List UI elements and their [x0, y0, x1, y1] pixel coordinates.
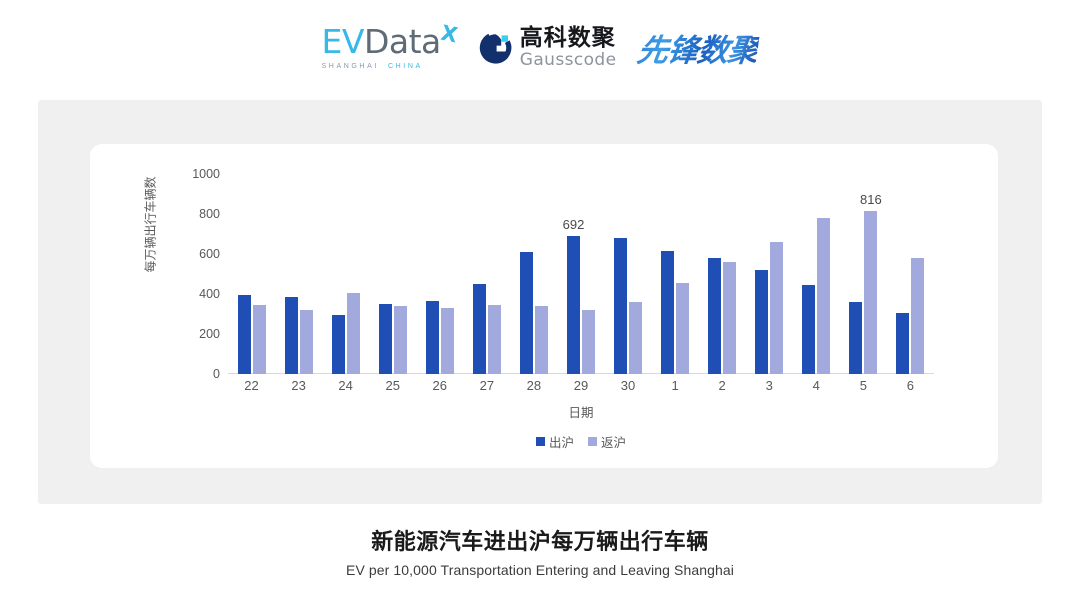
x-axis-tick-4: 4 [793, 378, 840, 393]
evdata-tagline: SHANGHAI CHINA [322, 63, 423, 70]
evdata-tagline-country: CHINA [388, 63, 423, 70]
evdata-ev-text: EV [322, 22, 364, 61]
x-axis-tick-5: 5 [840, 378, 887, 393]
legend-item-返沪[interactable]: 返沪 [588, 432, 626, 451]
bar-出沪-30[interactable] [614, 238, 627, 374]
evdata-wordmark: EVDataX [322, 25, 441, 58]
chart-outer-panel: 每万辆出行车辆数 692816 10008006004002000 222324… [38, 100, 1042, 504]
bar-group [322, 174, 369, 374]
bar-返沪-28[interactable] [535, 306, 548, 374]
bar-出沪-3[interactable] [755, 270, 768, 374]
chart-legend: 出沪返沪 [228, 432, 934, 451]
y-axis-tick-1000: 1000 [192, 167, 220, 181]
bar-返沪-30[interactable] [629, 302, 642, 374]
x-axis-title: 日期 [228, 402, 934, 421]
y-axis-tick-0: 0 [213, 367, 220, 381]
x-axis-tick-22: 22 [228, 378, 275, 393]
x-axis-tick-27: 27 [463, 378, 510, 393]
bar-返沪-22[interactable] [253, 305, 266, 374]
x-axis-tick-29: 29 [557, 378, 604, 393]
legend-swatch-icon [536, 437, 545, 446]
bar-group [887, 174, 934, 374]
logo-bar: EVDataX SHANGHAI CHINA 高科数聚 Gausscode 先锋… [0, 0, 1080, 95]
y-axis-tick-200: 200 [199, 327, 220, 341]
plot-area: 692816 10008006004002000 [228, 174, 934, 374]
evdata-data-text: Data [364, 22, 441, 61]
bar-出沪-23[interactable] [285, 297, 298, 374]
bar-返沪-24[interactable] [347, 293, 360, 374]
bar-group [228, 174, 275, 374]
bar-value-label: 692 [563, 217, 585, 232]
bar-group [463, 174, 510, 374]
bar-返沪-6[interactable] [911, 258, 924, 374]
y-axis-tick-600: 600 [199, 247, 220, 261]
gausscode-text: 高科数聚 Gausscode [520, 26, 617, 69]
bar-chart: 每万辆出行车辆数 692816 10008006004002000 222324… [90, 144, 998, 468]
caption-subtitle: EV per 10,000 Transportation Entering an… [0, 562, 1080, 578]
gausscode-cn-name: 高科数聚 [520, 26, 617, 49]
bar-出沪-26[interactable] [426, 301, 439, 374]
evdata-logo: EVDataX SHANGHAI CHINA [322, 25, 457, 70]
bar-value-label: 816 [860, 192, 882, 207]
y-axis-title: 每万辆出行车辆数 [142, 145, 159, 305]
bar-group [416, 174, 463, 374]
bar-group [699, 174, 746, 374]
x-axis-tick-3: 3 [746, 378, 793, 393]
bar-出沪-5[interactable] [849, 302, 862, 374]
y-axis-tick-800: 800 [199, 207, 220, 221]
bar-返沪-27[interactable] [488, 305, 501, 374]
legend-swatch-icon [588, 437, 597, 446]
x-axis-tick-1: 1 [652, 378, 699, 393]
x-axis-tick-23: 23 [275, 378, 322, 393]
bar-group [652, 174, 699, 374]
legend-label: 出沪 [549, 432, 574, 451]
bar-出沪-29[interactable]: 692 [567, 236, 580, 374]
gausscode-mark-icon [479, 31, 513, 65]
bar-出沪-4[interactable] [802, 285, 815, 374]
bar-group [746, 174, 793, 374]
bar-出沪-28[interactable] [520, 252, 533, 374]
x-axis-tick-25: 25 [369, 378, 416, 393]
legend-label: 返沪 [601, 432, 626, 451]
bar-出沪-27[interactable] [473, 284, 486, 374]
bar-返沪-23[interactable] [300, 310, 313, 374]
bar-group [510, 174, 557, 374]
caption-block: 新能源汽车进出沪每万辆出行车辆 EV per 10,000 Transporta… [0, 524, 1080, 578]
bar-groups: 692816 [228, 174, 934, 374]
x-axis-tick-6: 6 [887, 378, 934, 393]
bar-返沪-2[interactable] [723, 262, 736, 374]
bar-出沪-6[interactable] [896, 313, 909, 374]
bar-返沪-4[interactable] [817, 218, 830, 374]
bar-返沪-26[interactable] [441, 308, 454, 374]
bar-group: 692 [557, 174, 604, 374]
x-axis-tick-26: 26 [416, 378, 463, 393]
x-axis-tick-labels: 222324252627282930123456 [228, 378, 934, 393]
bar-出沪-24[interactable] [332, 315, 345, 374]
gausscode-logo: 高科数聚 Gausscode [479, 26, 617, 69]
evdata-x-icon: X [439, 23, 459, 47]
bar-返沪-5[interactable]: 816 [864, 211, 877, 374]
bar-返沪-3[interactable] [770, 242, 783, 374]
bar-返沪-25[interactable] [394, 306, 407, 374]
bar-出沪-22[interactable] [238, 295, 251, 374]
bar-出沪-1[interactable] [661, 251, 674, 374]
xianfeng-logo: 先锋数聚 [635, 25, 761, 70]
legend-item-出沪[interactable]: 出沪 [536, 432, 574, 451]
bar-group [369, 174, 416, 374]
gausscode-en-name: Gausscode [520, 52, 617, 69]
caption-title: 新能源汽车进出沪每万辆出行车辆 [0, 524, 1080, 556]
bar-返沪-29[interactable] [582, 310, 595, 374]
x-axis-tick-24: 24 [322, 378, 369, 393]
x-axis-tick-28: 28 [510, 378, 557, 393]
x-axis-tick-2: 2 [699, 378, 746, 393]
chart-card: 每万辆出行车辆数 692816 10008006004002000 222324… [90, 144, 998, 468]
bar-返沪-1[interactable] [676, 283, 689, 374]
x-axis-tick-30: 30 [605, 378, 652, 393]
bar-group [793, 174, 840, 374]
bar-group [605, 174, 652, 374]
y-axis-tick-400: 400 [199, 287, 220, 301]
bar-group: 816 [840, 174, 887, 374]
bar-group [275, 174, 322, 374]
bar-出沪-2[interactable] [708, 258, 721, 374]
bar-出沪-25[interactable] [379, 304, 392, 374]
evdata-tagline-city: SHANGHAI [322, 63, 379, 70]
